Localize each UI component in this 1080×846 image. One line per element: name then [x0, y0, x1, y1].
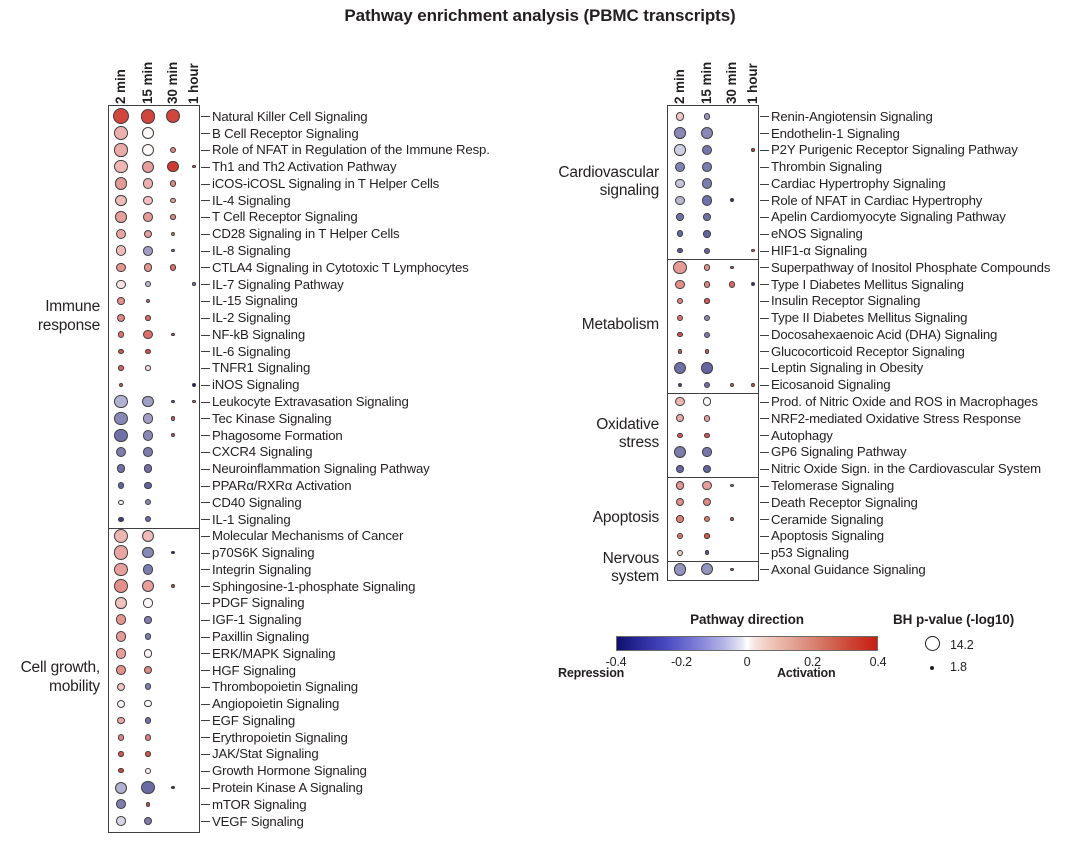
- data-point: [117, 314, 125, 322]
- data-point: [677, 248, 682, 253]
- data-point: [171, 584, 175, 588]
- group-label-right-panel-4: Nervoussystem: [509, 550, 659, 587]
- row-label: Type I Diabetes Mellitus Signaling: [771, 278, 964, 291]
- data-point: [704, 248, 710, 254]
- data-point: [116, 631, 126, 641]
- row-tick: [201, 586, 210, 587]
- row-label: Prod. of Nitric Oxide and ROS in Macroph…: [771, 395, 1038, 408]
- data-point: [143, 430, 154, 441]
- data-point: [751, 383, 755, 387]
- row-tick: [201, 452, 210, 453]
- data-point: [142, 547, 154, 559]
- row-tick: [760, 553, 769, 554]
- data-point: [676, 515, 683, 522]
- row-label: IL-7 Signaling Pathway: [212, 278, 344, 291]
- group-label-right-panel-1: Metabolism: [509, 316, 659, 334]
- row-tick: [760, 116, 769, 117]
- row-tick: [201, 301, 210, 302]
- data-point: [141, 109, 155, 123]
- row-label: Role of NFAT in Cardiac Hypertrophy: [771, 194, 982, 207]
- data-point: [677, 315, 683, 321]
- row-label: Telomerase Signaling: [771, 479, 894, 492]
- data-point: [678, 383, 682, 387]
- data-point: [678, 349, 683, 354]
- row-tick: [201, 217, 210, 218]
- group-label-line: mobility: [0, 678, 100, 696]
- legend-direction-title: Pathway direction: [627, 612, 867, 627]
- figure-canvas: Pathway enrichment analysis (PBMC transc…: [0, 0, 1080, 846]
- data-point: [114, 160, 127, 173]
- data-point: [116, 280, 125, 289]
- group-label-left-panel-1: Cell growth,mobility: [0, 659, 100, 696]
- group-separator-right-panel-4: [667, 561, 759, 562]
- data-point: [143, 447, 153, 457]
- data-point: [142, 161, 154, 173]
- colorbar-tick-1: -0.2: [662, 655, 702, 669]
- row-label: Leukocyte Extravasation Signaling: [212, 395, 409, 408]
- data-point: [171, 433, 175, 437]
- data-point: [145, 734, 152, 741]
- data-point: [145, 349, 150, 354]
- data-point: [705, 349, 710, 354]
- row-label: IL-4 Signaling: [212, 194, 291, 207]
- column-header-right-panel-2: 30 min: [724, 46, 740, 104]
- row-tick: [760, 133, 769, 134]
- column-header-left-panel-0: 2 min: [113, 46, 129, 104]
- data-point: [114, 545, 128, 559]
- data-point: [751, 249, 754, 252]
- row-label: Thrombopoietin Signaling: [212, 680, 358, 693]
- row-label: Cardiac Hypertrophy Signaling: [771, 177, 946, 190]
- column-header-left-panel-2: 30 min: [165, 46, 181, 104]
- data-point: [703, 465, 711, 473]
- row-label: eNOS Signaling: [771, 227, 863, 240]
- row-tick: [201, 788, 210, 789]
- data-point: [143, 212, 153, 222]
- row-tick: [201, 251, 210, 252]
- row-label: Thrombin Signaling: [771, 160, 882, 173]
- row-label: Death Receptor Signaling: [771, 496, 918, 509]
- data-point: [115, 782, 127, 794]
- row-tick: [201, 133, 210, 134]
- row-tick: [760, 200, 769, 201]
- row-label: HIF1-α Signaling: [771, 244, 867, 257]
- data-point: [118, 751, 124, 757]
- row-label: Phagosome Formation: [212, 429, 343, 442]
- colorbar-tick-4: 0.4: [858, 655, 898, 669]
- row-tick: [760, 536, 769, 537]
- row-tick: [201, 804, 210, 805]
- data-point: [675, 397, 684, 406]
- data-point: [676, 481, 685, 490]
- data-point: [118, 349, 123, 354]
- data-point: [702, 481, 711, 490]
- column-header-right-panel-1: 15 min: [699, 46, 715, 104]
- data-point: [116, 816, 126, 826]
- row-label: Paxillin Signaling: [212, 630, 309, 643]
- row-tick: [760, 385, 769, 386]
- data-point: [703, 213, 710, 220]
- row-label: CTLA4 Signaling in Cytotoxic T Lymphocyt…: [212, 261, 469, 274]
- data-point: [118, 500, 124, 506]
- data-point: [192, 383, 196, 387]
- row-label: Apoptosis Signaling: [771, 529, 884, 542]
- data-point: [730, 198, 734, 202]
- data-point: [145, 717, 152, 724]
- row-tick: [760, 486, 769, 487]
- data-point: [144, 482, 151, 489]
- group-label-line: response: [0, 317, 100, 335]
- data-point: [677, 433, 682, 438]
- data-point: [114, 579, 128, 593]
- data-point: [170, 180, 176, 186]
- data-point: [701, 362, 713, 374]
- data-point: [677, 332, 682, 337]
- row-tick: [201, 267, 210, 268]
- row-label: ERK/MAPK Signaling: [212, 647, 335, 660]
- data-point: [118, 517, 123, 522]
- color-scale-bar: [616, 636, 878, 651]
- row-label: T Cell Receptor Signaling: [212, 210, 358, 223]
- row-tick: [201, 418, 210, 419]
- row-tick: [201, 435, 210, 436]
- group-label-line: Cardiovascular: [509, 164, 659, 182]
- row-tick: [201, 620, 210, 621]
- data-point: [145, 315, 151, 321]
- data-point: [115, 177, 127, 189]
- data-point: [703, 230, 710, 237]
- data-point: [142, 144, 154, 156]
- row-tick: [760, 167, 769, 168]
- row-tick: [201, 704, 210, 705]
- data-point: [704, 281, 711, 288]
- data-point: [114, 395, 127, 408]
- figure-title: Pathway enrichment analysis (PBMC transc…: [0, 6, 1080, 26]
- data-point: [704, 298, 709, 303]
- row-label: IGF-1 Signaling: [212, 613, 301, 626]
- row-tick: [201, 536, 210, 537]
- row-tick: [201, 184, 210, 185]
- row-label: Integrin Signaling: [212, 563, 311, 576]
- data-point: [674, 144, 686, 156]
- column-header-left-panel-3: 1 hour: [186, 46, 202, 104]
- row-label: Sphingosine-1-phosphate Signaling: [212, 580, 415, 593]
- row-tick: [201, 234, 210, 235]
- row-label: EGF Signaling: [212, 714, 295, 727]
- row-tick: [201, 284, 210, 285]
- row-label: Autophagy: [771, 429, 833, 442]
- row-label: B Cell Receptor Signaling: [212, 127, 359, 140]
- row-tick: [201, 385, 210, 386]
- data-point: [171, 416, 175, 420]
- data-point: [677, 550, 683, 556]
- column-header-right-panel-0: 2 min: [672, 46, 688, 104]
- row-tick: [760, 184, 769, 185]
- data-point: [676, 112, 685, 121]
- row-tick: [201, 150, 210, 151]
- row-label: CD40 Signaling: [212, 496, 302, 509]
- row-tick: [760, 418, 769, 419]
- data-point: [170, 198, 175, 203]
- group-label-right-panel-2: Oxidativestress: [509, 416, 659, 453]
- row-label: Insulin Receptor Signaling: [771, 294, 920, 307]
- data-point: [116, 229, 126, 239]
- group-label-line: Immune: [0, 298, 100, 316]
- data-point: [676, 465, 683, 472]
- row-label: Superpathway of Inositol Phosphate Compo…: [771, 261, 1050, 274]
- data-point: [117, 700, 125, 708]
- data-point: [704, 315, 710, 321]
- row-label: VEGF Signaling: [212, 815, 304, 828]
- data-point: [704, 332, 710, 338]
- row-label: JAK/Stat Signaling: [212, 747, 319, 760]
- plot-box-right-panel: [667, 105, 759, 581]
- data-point: [145, 365, 151, 371]
- row-tick: [760, 251, 769, 252]
- row-label: NRF2-mediated Oxidative Stress Response: [771, 412, 1021, 425]
- group-label-right-panel-3: Apoptosis: [509, 509, 659, 527]
- data-point: [114, 143, 127, 156]
- data-point: [117, 297, 124, 304]
- row-tick: [201, 502, 210, 503]
- legend-size-title: BH p-value (-log10): [893, 612, 1014, 627]
- row-tick: [201, 603, 210, 604]
- data-point: [145, 516, 151, 522]
- legend-repression-label: Repression: [558, 666, 624, 680]
- legend-size-small-glyph: [930, 666, 934, 670]
- colorbar-tick-2: 0: [727, 655, 767, 669]
- row-label: Leptin Signaling in Obesity: [771, 361, 923, 374]
- row-tick: [760, 284, 769, 285]
- row-label: P2Y Purigenic Receptor Signaling Pathway: [771, 143, 1018, 156]
- row-tick: [201, 368, 210, 369]
- row-label: Eicosanoid Signaling: [771, 378, 890, 391]
- data-point: [143, 246, 153, 256]
- data-point: [702, 162, 712, 172]
- data-point: [116, 263, 126, 273]
- row-label: TNFR1 Signaling: [212, 361, 310, 374]
- row-label: Natural Killer Cell Signaling: [212, 110, 367, 123]
- row-tick: [760, 318, 769, 319]
- row-tick: [201, 553, 210, 554]
- row-tick: [760, 402, 769, 403]
- row-tick: [760, 502, 769, 503]
- row-tick: [760, 267, 769, 268]
- data-point: [114, 563, 128, 577]
- data-point: [674, 127, 686, 139]
- data-point: [145, 751, 151, 757]
- row-label: Neuroinflammation Signaling Pathway: [212, 462, 430, 475]
- row-label: Growth Hormone Signaling: [212, 764, 367, 777]
- data-point: [704, 533, 709, 538]
- data-point: [704, 113, 710, 119]
- data-point: [117, 717, 124, 724]
- row-label: CXCR4 Signaling: [212, 445, 312, 458]
- data-point: [676, 213, 683, 220]
- row-label: Docosahexaenoic Acid (DHA) Signaling: [771, 328, 997, 341]
- data-point: [115, 211, 127, 223]
- data-point: [145, 768, 151, 774]
- row-label: Renin-Angiotensin Signaling: [771, 110, 933, 123]
- row-label: PDGF Signaling: [212, 596, 304, 609]
- row-tick: [201, 821, 210, 822]
- row-tick: [201, 754, 210, 755]
- row-label: IL-1 Signaling: [212, 513, 291, 526]
- row-tick: [760, 452, 769, 453]
- row-tick: [201, 687, 210, 688]
- row-tick: [201, 653, 210, 654]
- data-point: [751, 148, 754, 151]
- data-point: [170, 264, 177, 271]
- data-point: [115, 597, 127, 609]
- row-tick: [760, 569, 769, 570]
- data-point: [675, 196, 684, 205]
- row-label: Type II Diabetes Mellitus Signaling: [771, 311, 967, 324]
- data-point: [703, 397, 712, 406]
- row-tick: [201, 637, 210, 638]
- row-tick: [201, 167, 210, 168]
- data-point: [704, 415, 710, 421]
- row-tick: [201, 670, 210, 671]
- column-header-right-panel-3: 1 hour: [745, 46, 761, 104]
- row-tick: [201, 116, 210, 117]
- row-label: IL-8 Signaling: [212, 244, 291, 257]
- data-point: [675, 162, 685, 172]
- group-label-line: Nervous: [509, 550, 659, 568]
- data-point: [674, 563, 687, 576]
- data-point: [118, 365, 124, 371]
- row-tick: [201, 720, 210, 721]
- row-label: Endothelin-1 Signaling: [771, 127, 900, 140]
- group-separator-right-panel-1: [667, 259, 759, 260]
- data-point: [675, 280, 684, 289]
- data-point: [674, 446, 686, 458]
- row-tick: [201, 486, 210, 487]
- data-point: [730, 517, 734, 521]
- row-tick: [201, 737, 210, 738]
- column-header-left-panel-1: 15 min: [140, 46, 156, 104]
- row-label: Angiopoietin Signaling: [212, 697, 339, 710]
- row-label: IL-6 Signaling: [212, 345, 291, 358]
- legend-activation-label: Activation: [777, 666, 835, 680]
- data-point: [144, 230, 152, 238]
- group-separator-right-panel-3: [667, 477, 759, 478]
- data-point: [116, 245, 126, 255]
- row-tick: [760, 469, 769, 470]
- row-tick: [760, 435, 769, 436]
- group-label-line: stress: [509, 434, 659, 452]
- row-tick: [201, 335, 210, 336]
- data-point: [675, 179, 685, 189]
- data-point: [144, 263, 153, 272]
- group-label-line: Metabolism: [509, 316, 659, 334]
- row-tick: [201, 351, 210, 352]
- row-label: IL-15 Signaling: [212, 294, 298, 307]
- data-point: [142, 396, 154, 408]
- data-point: [192, 282, 195, 285]
- data-point: [170, 214, 175, 219]
- group-label-line: system: [509, 568, 659, 586]
- data-point: [144, 616, 151, 623]
- row-label: Nitric Oxide Sign. in the Cardiovascular…: [771, 462, 1041, 475]
- data-point: [116, 665, 126, 675]
- legend-size-large-label: 14.2: [950, 638, 974, 652]
- row-tick: [201, 771, 210, 772]
- data-point: [704, 264, 711, 271]
- data-point: [143, 330, 152, 339]
- row-label: Axonal Guidance Signaling: [771, 563, 926, 576]
- row-label: Molecular Mechanisms of Cancer: [212, 529, 403, 542]
- row-label: GP6 Signaling Pathway: [771, 445, 906, 458]
- data-point: [114, 412, 128, 426]
- row-tick: [760, 368, 769, 369]
- row-label: p53 Signaling: [771, 546, 849, 559]
- group-label-line: Cell growth,: [0, 659, 100, 677]
- data-point: [673, 261, 687, 275]
- legend-size-large-glyph: [925, 636, 940, 651]
- row-tick: [201, 318, 210, 319]
- row-label: iNOS Signaling: [212, 378, 299, 391]
- data-point: [704, 382, 710, 388]
- data-point: [118, 734, 125, 741]
- row-tick: [201, 519, 210, 520]
- row-tick: [760, 217, 769, 218]
- row-label: Protein Kinase A Signaling: [212, 781, 363, 794]
- row-label: Erythropoietin Signaling: [212, 731, 348, 744]
- row-label: Th1 and Th2 Activation Pathway: [212, 160, 396, 173]
- row-label: HGF Signaling: [212, 664, 296, 677]
- row-label: p70S6K Signaling: [212, 546, 314, 559]
- data-point: [702, 447, 711, 456]
- row-tick: [201, 469, 210, 470]
- row-label: iCOS-iCOSL Signaling in T Helper Cells: [212, 177, 439, 190]
- row-label: Glucocorticoid Receptor Signaling: [771, 345, 965, 358]
- data-point: [116, 648, 126, 658]
- row-label: Apelin Cardiomyocyte Signaling Pathway: [771, 210, 1006, 223]
- data-point: [702, 195, 713, 206]
- data-point: [144, 649, 153, 658]
- row-tick: [760, 150, 769, 151]
- row-label: mTOR Signaling: [212, 798, 306, 811]
- row-label: PPARα/RXRα Activation: [212, 479, 351, 492]
- row-label: Ceramide Signaling: [771, 513, 883, 526]
- row-tick: [760, 301, 769, 302]
- data-point: [143, 598, 152, 607]
- data-point: [146, 802, 151, 807]
- data-point: [729, 281, 736, 288]
- row-tick: [201, 200, 210, 201]
- data-point: [114, 429, 127, 442]
- row-label: Tec Kinase Signaling: [212, 412, 331, 425]
- row-tick: [760, 351, 769, 352]
- data-point: [143, 178, 153, 188]
- group-label-line: signaling: [509, 182, 659, 200]
- row-tick: [201, 569, 210, 570]
- row-tick: [760, 519, 769, 520]
- row-label: IL-2 Signaling: [212, 311, 291, 324]
- group-label-line: Apoptosis: [509, 509, 659, 527]
- data-point: [143, 196, 152, 205]
- row-label: CD28 Signaling in T Helper Cells: [212, 227, 400, 240]
- data-point: [141, 781, 154, 794]
- row-label: NF-kB Signaling: [212, 328, 305, 341]
- data-point: [704, 433, 709, 438]
- data-point: [677, 533, 683, 539]
- group-label-line: Oxidative: [509, 416, 659, 434]
- row-tick: [760, 335, 769, 336]
- legend-size-small-label: 1.8: [950, 660, 967, 674]
- group-separator-right-panel-2: [667, 393, 759, 394]
